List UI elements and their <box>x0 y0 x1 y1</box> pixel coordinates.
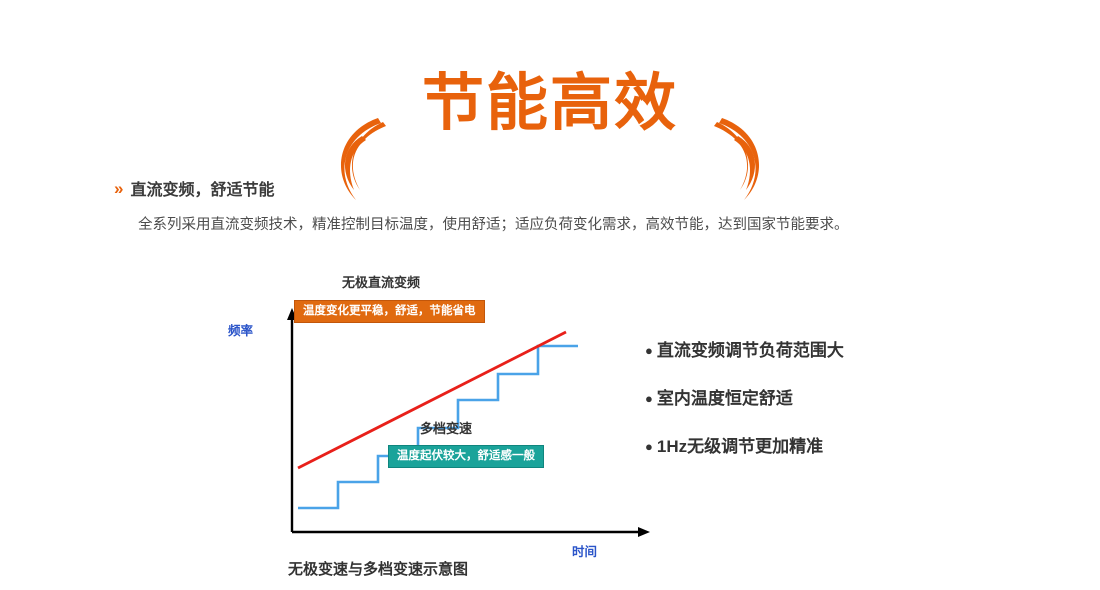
section-heading: » 直流变频，舒适节能 <box>114 176 274 200</box>
bullet-dot-icon: ● <box>645 340 653 362</box>
feature-list: ● 直流变频调节负荷范围大 ● 室内温度恒定舒适 ● 1Hz无级调节更加精准 <box>645 340 844 484</box>
feature-label: 室内温度恒定舒适 <box>657 388 793 410</box>
chart-caption: 无极变速与多档变速示意图 <box>288 558 468 579</box>
bullet-dot-icon: ● <box>645 388 653 410</box>
feature-label: 直流变频调节负荷范围大 <box>657 340 844 362</box>
feature-label: 1Hz无级调节更加精准 <box>657 436 823 458</box>
section-body-text: 全系列采用直流变频技术，精准控制目标温度，使用舒适；适应负荷变化需求，高效节能，… <box>138 212 986 239</box>
chart-multistage-annotation: 温度起伏较大，舒适感一般 <box>388 445 544 468</box>
chart-inverter-annotation: 温度变化更平稳，舒适，节能省电 <box>294 300 485 323</box>
chart-y-axis-label: 频率 <box>228 320 253 339</box>
chart-multistage-label: 多档变速 <box>420 418 472 437</box>
list-item: ● 室内温度恒定舒适 <box>645 388 844 410</box>
bullet-dot-icon: ● <box>645 436 653 458</box>
double-chevron-right-icon: » <box>114 180 123 197</box>
page-title-banner: 节能高效 <box>0 48 1100 158</box>
chart-title: 无极直流变频 <box>342 272 420 291</box>
list-item: ● 直流变频调节负荷范围大 <box>645 340 844 362</box>
chart-x-axis-label: 时间 <box>572 541 597 560</box>
list-item: ● 1Hz无级调节更加精准 <box>645 436 844 458</box>
section-heading-label: 直流变频，舒适节能 <box>130 176 274 200</box>
chart-container: 无极直流变频 频率 时间 多档变速 无极变速与多档变速示意图 温度变化更平稳，舒… <box>230 270 660 580</box>
